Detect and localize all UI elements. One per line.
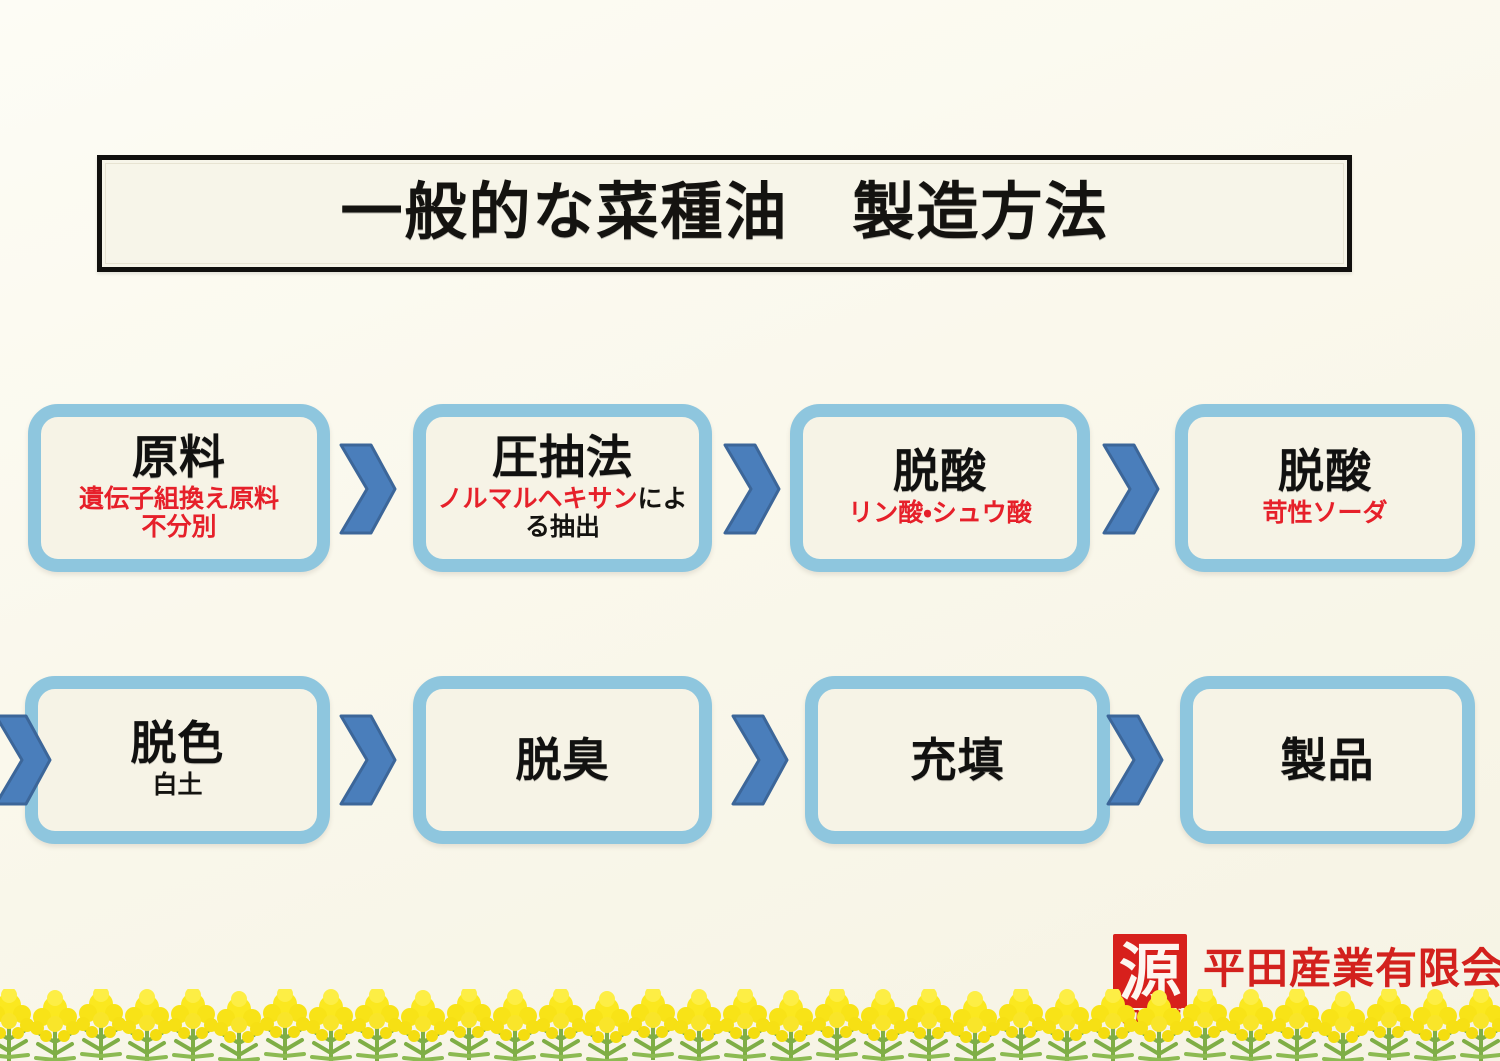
slide-title-inner-frame: 一般的な菜種油 製造方法 — [105, 163, 1344, 264]
slide-title-box: 一般的な菜種油 製造方法 — [97, 155, 1352, 272]
process-step-note: 苛性ソーダ — [1262, 499, 1387, 528]
rapeseed-flower-border — [0, 989, 1500, 1061]
process-step-degumming: 脱酸 リン酸・シュウ酸 — [790, 404, 1090, 572]
company-name: 平田産業有限会社 — [1203, 948, 1500, 990]
slide-canvas: 一般的な菜種油 製造方法 原料 遺伝子組換え原料 不分別 圧抽法 ノルマルヘキサ… — [0, 0, 1500, 1061]
flow-arrow-3-4 — [1100, 441, 1162, 537]
flow-arrow-2-3 — [721, 441, 783, 537]
process-step-bleaching: 脱色 白土 — [25, 676, 330, 844]
process-step-label: 脱臭 — [516, 737, 610, 784]
flow-arrow-4-5 — [0, 712, 54, 808]
process-step-note: 白土 — [152, 771, 202, 800]
page-title: 一般的な菜種油 製造方法 — [340, 181, 1108, 243]
process-step-product: 製品 — [1180, 676, 1475, 844]
process-step-label: 原料 — [132, 434, 226, 481]
process-step-note-highlight: ノルマルヘキサン — [437, 484, 637, 513]
process-step-note: ノルマルヘキサンによる抽出 — [426, 485, 699, 543]
process-step-raw-material: 原料 遺伝子組換え原料 不分別 — [28, 404, 330, 572]
process-step-label: 脱酸 — [893, 448, 987, 495]
process-step-note: リン酸・シュウ酸 — [848, 499, 1032, 528]
process-step-label: 製品 — [1281, 737, 1375, 784]
flow-arrow-1-2 — [337, 441, 399, 537]
process-step-extraction: 圧抽法 ノルマルヘキサンによる抽出 — [413, 404, 712, 572]
process-step-filling: 充填 — [805, 676, 1110, 844]
process-step-note: 遺伝子組換え原料 不分別 — [79, 485, 279, 543]
flow-arrow-6-7 — [729, 712, 791, 808]
process-step-deodorization: 脱臭 — [413, 676, 712, 844]
flow-arrow-7-8 — [1104, 712, 1166, 808]
process-step-label: 脱色 — [131, 720, 225, 767]
process-step-label: 充填 — [911, 737, 1005, 784]
flow-arrow-5-6 — [337, 712, 399, 808]
process-step-label: 圧抽法 — [492, 434, 633, 481]
process-step-deacidification: 脱酸 苛性ソーダ — [1175, 404, 1475, 572]
process-step-label: 脱酸 — [1278, 448, 1372, 495]
